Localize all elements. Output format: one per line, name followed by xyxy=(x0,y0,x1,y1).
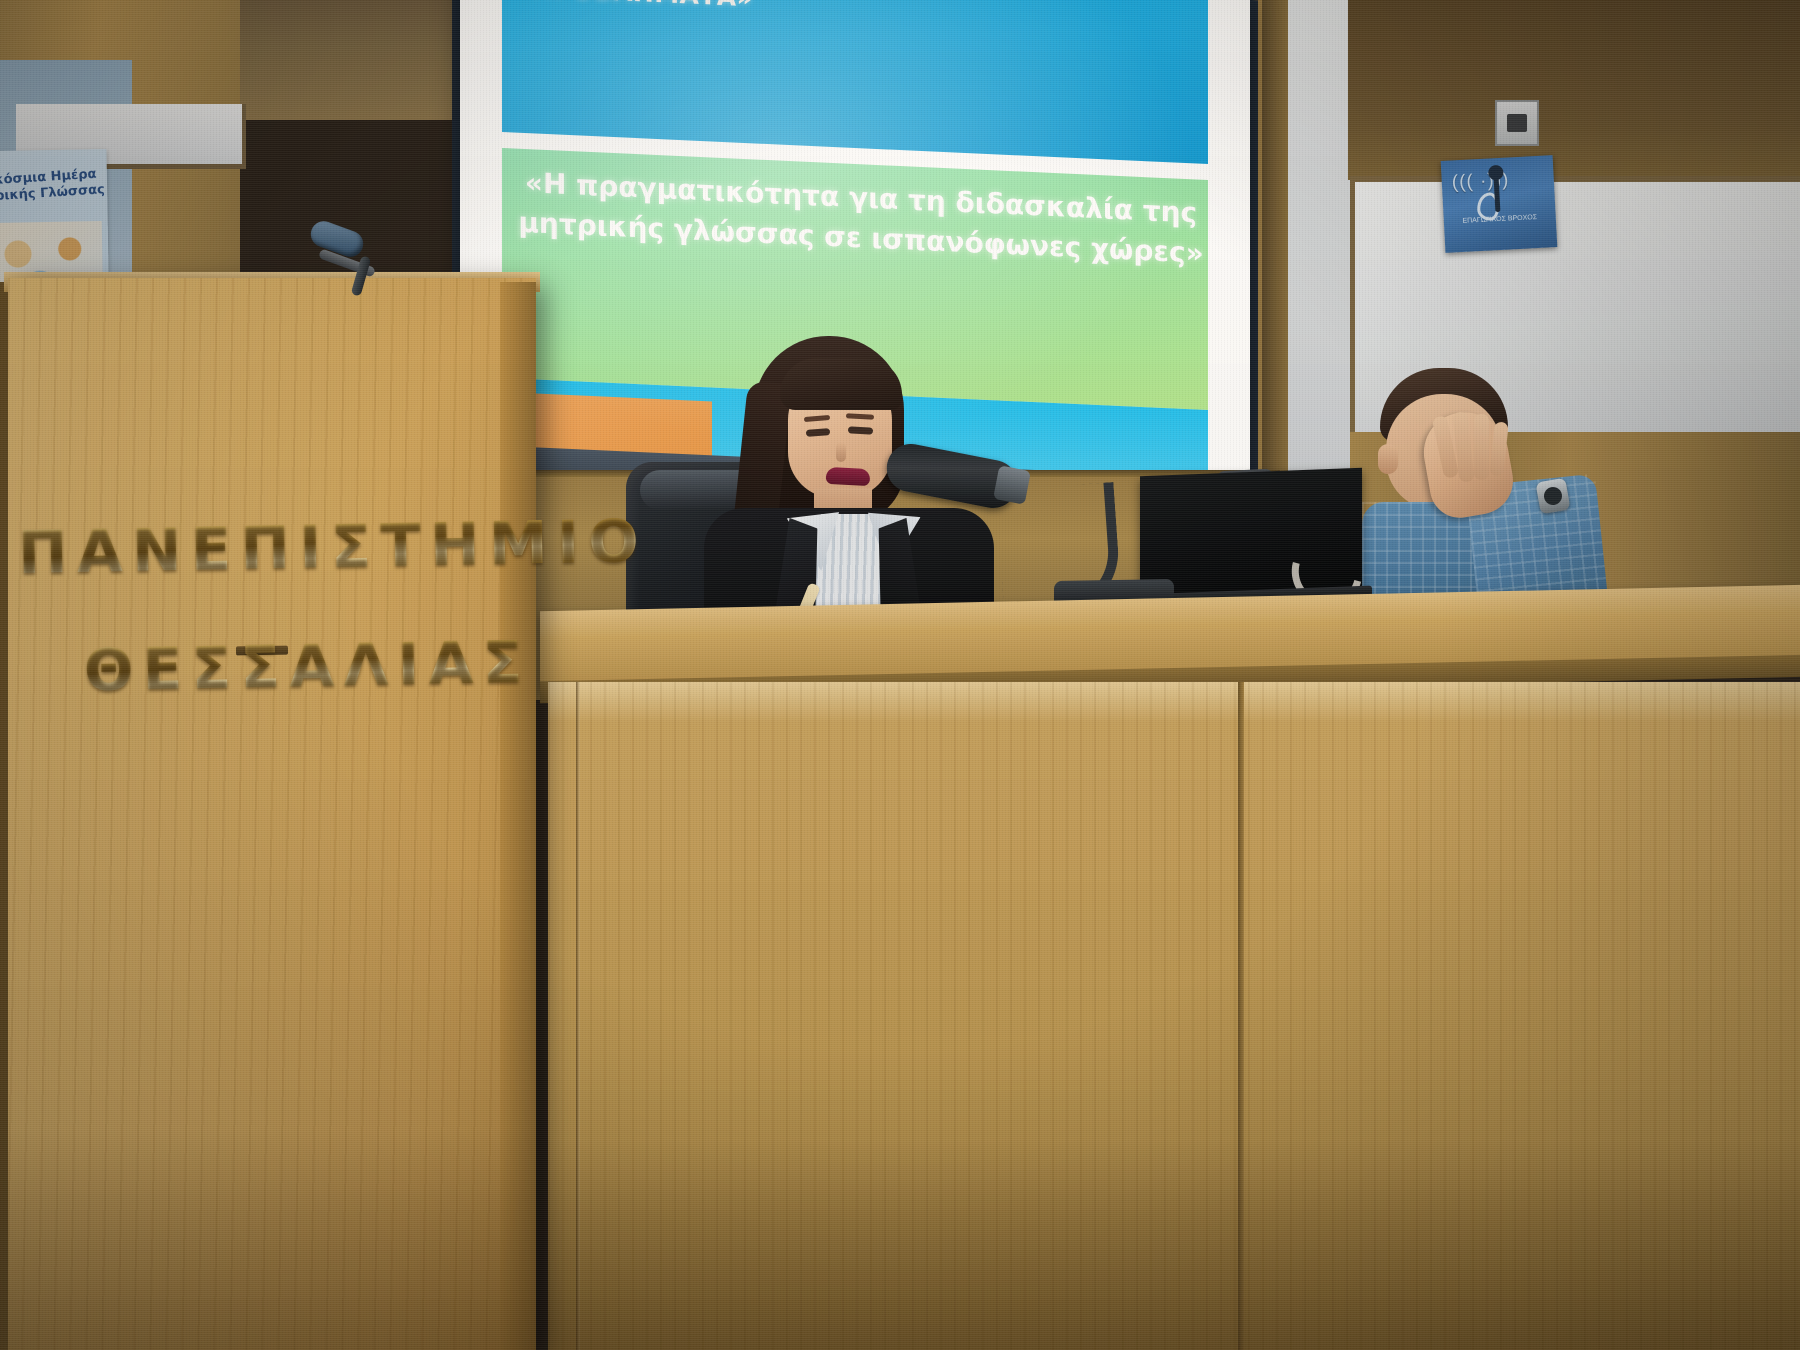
desk-lower-shadow xyxy=(548,1140,1800,1350)
hearing-loop-sign: ((( ·))) ΕΠΑΓΩΓΙΚΟΣ ΒΡΟΧΟΣ xyxy=(1441,155,1558,253)
podium-shadow xyxy=(8,1130,536,1350)
speaker-lips xyxy=(826,467,871,486)
wall-vent xyxy=(1495,100,1539,146)
speaker-fringe xyxy=(780,358,902,410)
poster-title: αγκόσμια Ημέρα ητρικής Γλώσσας xyxy=(0,166,108,206)
university-name-line-2: ΘΕΣΣΑΛΙΑΣ xyxy=(83,628,532,705)
antenna-icon xyxy=(1493,172,1500,212)
panelist-finger xyxy=(1474,414,1489,480)
conference-hall-photo: αγκόσμια Ημέρα ητρικής Γλώσσας ((( ·))) … xyxy=(0,0,1800,1350)
university-name-line-1: ΠΑΝΕΠΙΣΤΗΜΙΟ xyxy=(17,506,648,587)
panelist-man xyxy=(1342,352,1632,612)
right-dark-wall xyxy=(1348,0,1800,180)
panelist-ear xyxy=(1378,444,1398,474)
sign-caption: ΕΠΑΓΩΓΙΚΟΣ ΒΡΟΧΟΣ xyxy=(1450,213,1550,227)
speaker-nose xyxy=(836,442,846,462)
panelist-wristwatch xyxy=(1535,478,1570,515)
speaker-eye-right xyxy=(848,426,873,434)
